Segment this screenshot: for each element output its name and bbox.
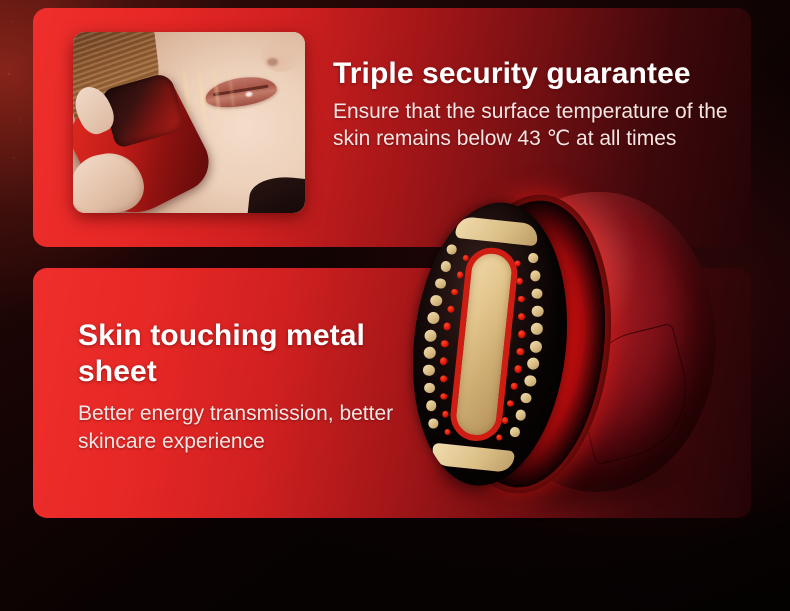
bottom-heading: Skin touching metal sheet [78,318,428,390]
product-feature-banner: Triple security guarantee Ensure that th… [0,0,790,611]
bottom-text-block: Skin touching metal sheet Better energy … [78,318,428,456]
feature-panel-top: Triple security guarantee Ensure that th… [33,8,751,247]
top-text-block: Triple security guarantee Ensure that th… [333,55,751,152]
bottom-subtitle: Better energy transmission, better skinc… [78,400,428,456]
top-heading: Triple security guarantee [333,55,751,93]
top-subtitle: Ensure that the surface temperature of t… [333,98,751,152]
photo-nose [261,38,301,72]
lifestyle-photo [73,32,305,213]
feature-panel-bottom: Skin touching metal sheet Better energy … [33,268,751,518]
